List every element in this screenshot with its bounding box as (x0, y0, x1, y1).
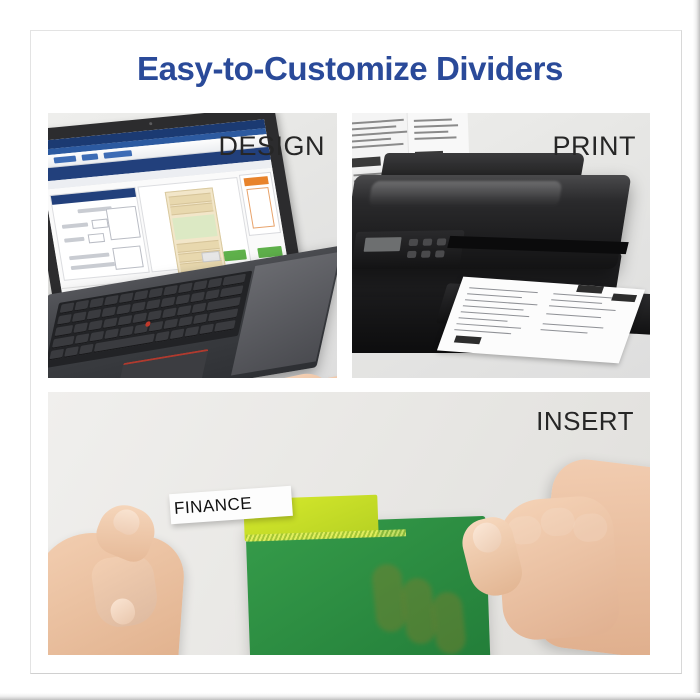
hand-right-holding-divider (448, 440, 650, 655)
panel-label-design: DESIGN (218, 131, 325, 162)
panel-insert: FINANCE INSERT (48, 392, 650, 655)
app-cancel-button[interactable] (201, 251, 221, 263)
hand-on-laptop (233, 363, 337, 378)
app-primary-action-button[interactable] (223, 249, 247, 261)
printed-sheet (437, 277, 645, 364)
page-edge-bottom (0, 693, 700, 700)
panel-print: PRINT (352, 113, 650, 378)
product-feature-graphic: Easy-to-Customize Dividers (0, 0, 700, 700)
printer-lcd-display (364, 237, 402, 252)
page-edge-right (693, 0, 700, 700)
panel-label-print: PRINT (553, 131, 637, 162)
side-panel-outline (246, 187, 275, 229)
printer-control-panel[interactable] (352, 230, 465, 268)
form-panel-header (51, 188, 136, 205)
webcam-icon (149, 122, 152, 125)
side-panel-header (244, 176, 269, 186)
panel-label-insert: INSERT (536, 406, 634, 437)
page-title: Easy-to-Customize Dividers (0, 50, 700, 88)
panel-design: DESIGN (48, 113, 337, 378)
hand-left-holding-label (48, 510, 222, 655)
app-form-panel (50, 187, 150, 281)
lid-highlight (368, 181, 562, 207)
